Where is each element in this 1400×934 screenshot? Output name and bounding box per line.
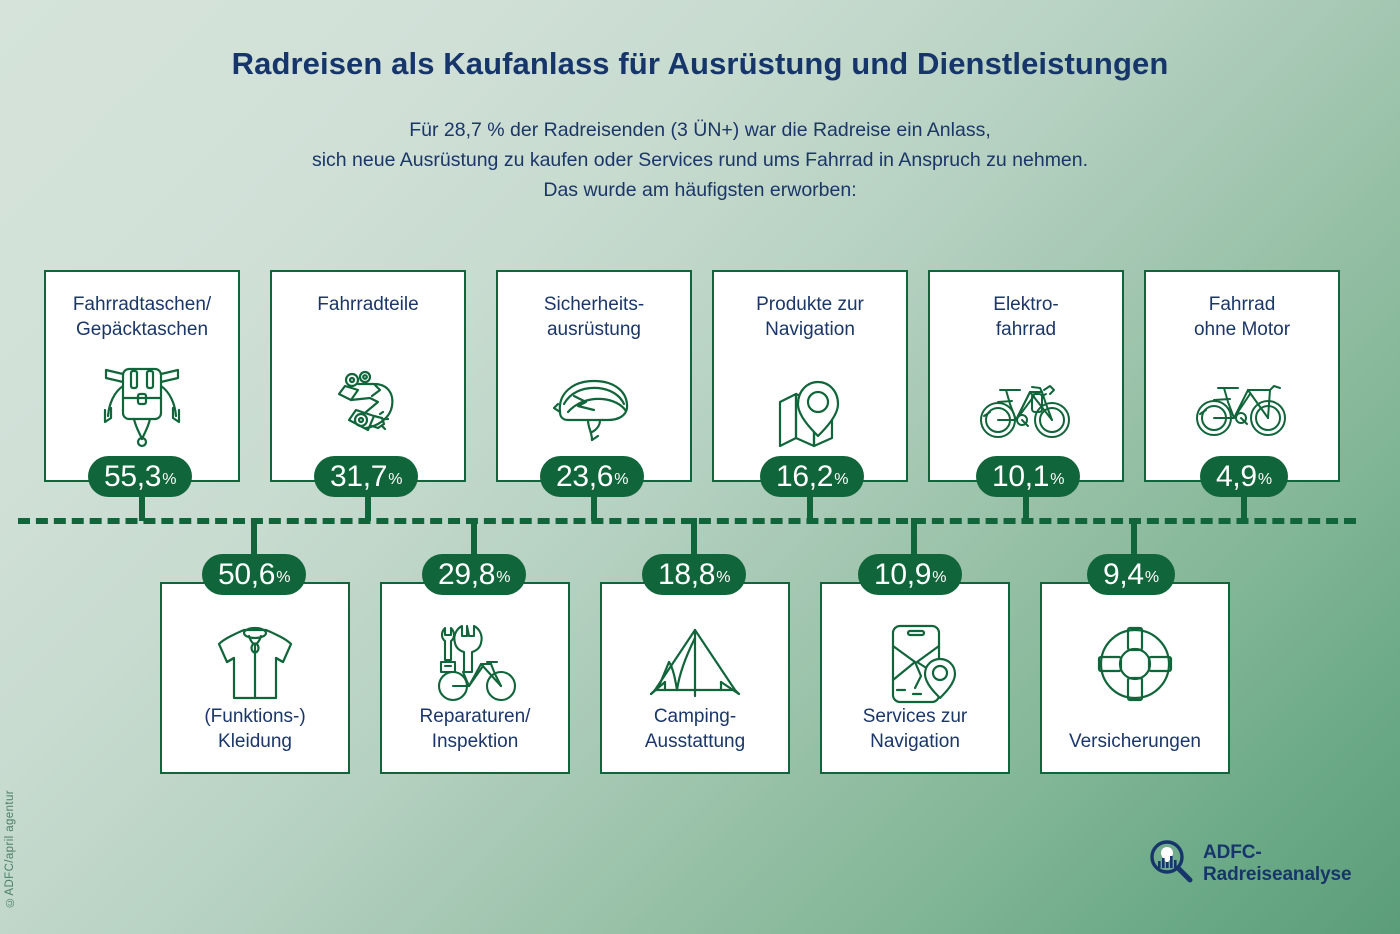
map-pin-icon xyxy=(714,356,906,456)
repair-tools-icon xyxy=(382,612,568,716)
connector-stem xyxy=(591,493,597,521)
badge-reparaturen: 29,8% xyxy=(422,554,526,595)
card-label: Fahrrad ohne Motor xyxy=(1146,292,1338,342)
badge-produkte-navigation: 16,2% xyxy=(760,456,864,497)
magnifier-chart-icon xyxy=(1148,838,1194,889)
card-produkte-navigation[interactable]: Produkte zur Navigation xyxy=(712,270,908,482)
badge-elektrofahrrad: 10,1% xyxy=(976,456,1080,497)
badge-camping: 18,8% xyxy=(642,554,746,595)
jersey-icon xyxy=(162,612,348,716)
badge-fahrrad-ohne-motor: 4,9% xyxy=(1200,456,1288,497)
card-label: Sicherheits- ausrüstung xyxy=(498,292,690,342)
card-label: Fahrradtaschen/ Gepäcktaschen xyxy=(46,292,238,342)
card-versicherungen[interactable]: Versicherungen xyxy=(1040,582,1230,774)
page-title: Radreisen als Kaufanlass für Ausrüstung … xyxy=(0,46,1400,82)
helmet-icon xyxy=(498,356,690,456)
bicycle-icon xyxy=(1146,356,1338,456)
badge-versicherungen: 9,4% xyxy=(1087,554,1175,595)
card-funktionskleidung[interactable]: (Funktions-) Kleidung xyxy=(160,582,350,774)
card-fahrradteile[interactable]: Fahrradteile xyxy=(270,270,466,482)
derailleur-icon xyxy=(272,356,464,456)
badge-sicherheitsausruestung: 23,6% xyxy=(540,456,644,497)
card-elektrofahrrad[interactable]: Elektro- fahrrad xyxy=(928,270,1124,482)
card-label: Versicherungen xyxy=(1042,729,1228,754)
card-fahrradtaschen[interactable]: Fahrradtaschen/ Gepäcktaschen xyxy=(44,270,240,482)
dashed-axis-line xyxy=(18,518,1356,524)
card-label: Camping- Ausstattung xyxy=(602,704,788,754)
card-label: Reparaturen/ Inspektion xyxy=(382,704,568,754)
badge-services-navigation: 10,9% xyxy=(858,554,962,595)
badge-funktionskleidung: 50,6% xyxy=(202,554,306,595)
badge-fahrradtaschen: 55,3% xyxy=(88,456,192,497)
life-ring-icon xyxy=(1042,612,1228,716)
card-services-navigation[interactable]: Services zur Navigation xyxy=(820,582,1010,774)
logo-text: ADFC-Radreiseanalyse xyxy=(1203,842,1400,886)
card-fahrrad-ohne-motor[interactable]: Fahrrad ohne Motor xyxy=(1144,270,1340,482)
page-subtitle: Für 28,7 % der Radreisenden (3 ÜN+) war … xyxy=(0,115,1400,205)
subtitle-line-1: Für 28,7 % der Radreisenden (3 ÜN+) war … xyxy=(0,115,1400,145)
pannier-bag-icon xyxy=(46,356,238,456)
card-label: Fahrradteile xyxy=(272,292,464,317)
connector-stem xyxy=(139,493,145,521)
connector-stem xyxy=(1023,493,1029,521)
card-label: Services zur Navigation xyxy=(822,704,1008,754)
card-label: (Funktions-) Kleidung xyxy=(162,704,348,754)
connector-stem xyxy=(365,493,371,521)
connector-stem xyxy=(807,493,813,521)
tent-icon xyxy=(602,612,788,716)
card-reparaturen[interactable]: Reparaturen/ Inspektion xyxy=(380,582,570,774)
subtitle-line-3: Das wurde am häufigsten erworben: xyxy=(0,175,1400,205)
smartphone-map-icon xyxy=(822,612,1008,716)
copyright-notice: ©ADFC/april agentur xyxy=(4,790,16,908)
card-label: Produkte zur Navigation xyxy=(714,292,906,342)
adfc-logo: ADFC-Radreiseanalyse xyxy=(1148,838,1400,889)
card-label: Elektro- fahrrad xyxy=(930,292,1122,342)
card-camping[interactable]: Camping- Ausstattung xyxy=(600,582,790,774)
card-sicherheitsausruestung[interactable]: Sicherheits- ausrüstung xyxy=(496,270,692,482)
subtitle-line-2: sich neue Ausrüstung zu kaufen oder Serv… xyxy=(0,145,1400,175)
connector-stem xyxy=(1241,493,1247,521)
badge-fahrradteile: 31,7% xyxy=(314,456,418,497)
e-bike-icon xyxy=(930,356,1122,456)
